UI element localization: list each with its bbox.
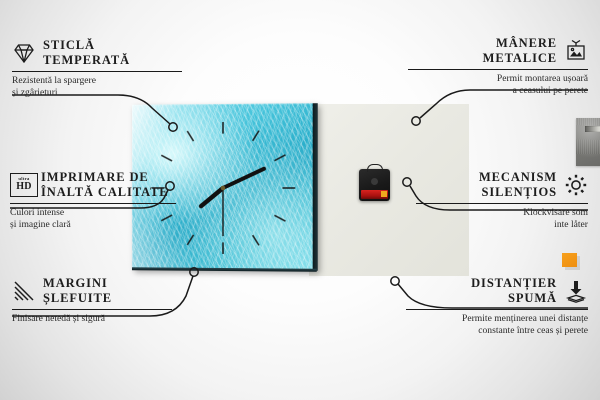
callout-subtitle-line: a ceasului pe perete <box>408 85 588 97</box>
callout-subtitle-line: Rezistentă la spargere <box>12 75 182 87</box>
callout-title-line: ȘLEFUITE <box>43 291 112 306</box>
ultra-hd-icon: ultra HD <box>10 173 34 197</box>
foam-spacer <box>562 253 577 267</box>
callout-subtitle-line: Finisare netedă și sigură <box>12 313 172 325</box>
callout-foam-spacer: DISTANȚIER SPUMĂ Permite menținerea unei… <box>406 276 588 337</box>
clock-hour-hand <box>201 188 223 206</box>
callout-rule <box>408 69 588 70</box>
callout-subtitle-line: Permit montarea ușoară <box>408 73 588 85</box>
glass-side-edge <box>313 103 318 271</box>
mechanism-bail <box>367 164 383 172</box>
callout-subtitle-line: și zgârieturi <box>12 87 182 99</box>
clock-tick <box>274 155 285 161</box>
callout-title-line: IMPRIMARE DE <box>41 170 169 185</box>
callout-rule <box>12 71 182 72</box>
polished-edge-icon <box>12 279 36 303</box>
battery-plus-terminal <box>381 191 387 197</box>
callout-silent-mechanism: MECANISM SILENȚIOS Klockvisare som inte … <box>416 170 588 231</box>
callout-rule <box>406 309 588 310</box>
picture-hanger-icon <box>564 39 588 63</box>
callout-rule <box>416 203 588 204</box>
clock-minute-hand <box>223 169 264 188</box>
callout-title-line: MARGINI <box>43 276 112 291</box>
metal-hanger-plate <box>576 118 600 166</box>
callout-subtitle-line: și imagine clară <box>10 219 176 231</box>
quartz-clock-mechanism <box>359 169 390 201</box>
callout-subtitle-line: Culori intense <box>10 207 176 219</box>
mechanism-shaft <box>371 178 378 185</box>
down-arrow-stack-icon <box>564 279 588 303</box>
callout-title-line: STICLĂ <box>43 38 130 53</box>
ultra-hd-icon-main-text: HD <box>16 182 31 192</box>
callout-subtitle-line: Klockvisare som <box>416 207 588 219</box>
clock-tick <box>161 155 172 161</box>
diamond-icon <box>12 41 36 65</box>
clock-tick <box>253 235 259 245</box>
callout-polished-edges: MARGINI ȘLEFUITE Finisare netedă și sigu… <box>12 276 172 325</box>
callout-rule <box>10 203 176 204</box>
glass-bottom-edge <box>132 267 317 272</box>
callout-title-line: TEMPERATĂ <box>43 53 130 68</box>
callout-title-line: DISTANȚIER <box>471 276 557 291</box>
callout-title-line: SPUMĂ <box>471 291 557 306</box>
callout-subtitle-line: Permite menținerea unei distanțe <box>406 313 588 325</box>
clock-tick <box>253 131 259 141</box>
callout-subtitle-line: constante între ceas și perete <box>406 325 588 337</box>
callout-high-quality-print: ultra HD IMPRIMARE DE ÎNALTĂ CALITATE Cu… <box>10 170 176 231</box>
callout-title-line: METALICE <box>483 51 557 66</box>
aa-battery <box>361 190 388 199</box>
hanger-slot <box>585 126 600 132</box>
clock-tick <box>274 215 285 221</box>
callout-title-line: MECANISM <box>479 170 557 185</box>
callout-title-line: ÎNALTĂ CALITATE <box>41 185 169 200</box>
callout-rule <box>12 309 172 310</box>
clock-tick <box>187 235 193 245</box>
leader-dot-foam-spacer <box>391 277 399 285</box>
callout-title-line: MÂNERE <box>483 36 557 51</box>
callout-subtitle-line: inte låter <box>416 219 588 231</box>
callout-tempered-glass: STICLĂ TEMPERATĂ Rezistentă la spargere … <box>12 38 182 99</box>
gear-icon <box>564 173 588 197</box>
callout-title-line: SILENȚIOS <box>479 185 557 200</box>
clock-center-pin <box>221 186 226 191</box>
callout-metal-hangers: MÂNERE METALICE Permit montarea ușoară a… <box>408 36 588 97</box>
clock-tick <box>187 131 193 141</box>
infographic-canvas: STICLĂ TEMPERATĂ Rezistentă la spargere … <box>0 0 600 400</box>
